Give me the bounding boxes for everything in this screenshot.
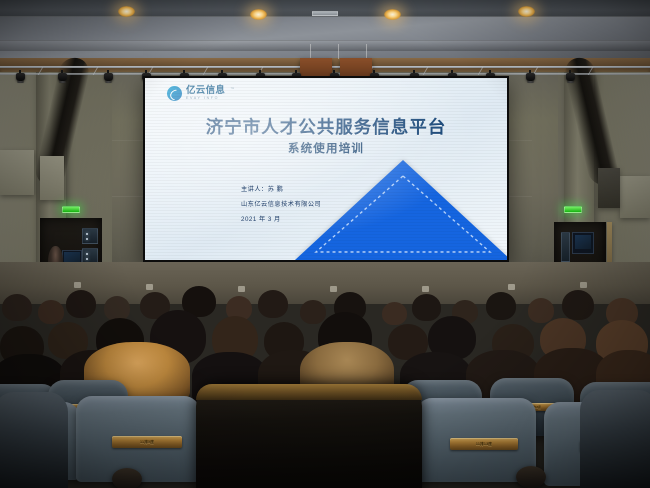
stage-light-icon	[566, 70, 575, 83]
seat-armrest-right[interactable]	[516, 466, 546, 488]
hanging-wire	[310, 44, 311, 59]
seat[interactable]: 11排13座	[416, 398, 536, 482]
slide-meta-block: 主讲人：苏 鹏 山东亿云信息技术有限公司 2021 年 3 月	[241, 184, 321, 223]
seat-foreground-rim	[196, 384, 422, 400]
rack-led-icon	[86, 253, 88, 255]
seat-armrest-left[interactable]	[112, 468, 142, 488]
wall-panel-left-lower	[40, 156, 64, 200]
ceiling-spotlight-icon	[518, 6, 535, 17]
ceiling-vent	[312, 11, 338, 16]
slide-logo: 亿云信息 EVAY INFO ™	[167, 86, 234, 101]
stage-light-icon	[104, 70, 113, 83]
equipment-rack-right	[561, 232, 570, 262]
slide-title: 济宁市人才公共服务信息平台	[145, 114, 507, 139]
slide-triangle-graphic	[295, 156, 507, 260]
rack-led-icon	[86, 238, 88, 240]
stage-light-icon	[58, 70, 67, 83]
projection-screen: 亿云信息 EVAY INFO ™ 济宁市人才公共服务信息平台 系统使用培训 主讲…	[143, 76, 509, 262]
exit-sign-left-icon	[62, 206, 80, 213]
audience-head	[258, 290, 288, 318]
slide-meta-company: 山东亿云信息技术有限公司	[241, 199, 321, 208]
seat-foreground-center[interactable]	[196, 384, 422, 488]
logo-name-en: EVAY INFO	[186, 97, 225, 101]
audience-head	[2, 294, 32, 321]
ceiling	[0, 0, 650, 62]
audience-head	[528, 298, 554, 323]
audience-head	[382, 302, 407, 325]
exit-sign-right-icon	[564, 206, 582, 213]
audience-head	[412, 294, 441, 321]
logo-text: 亿云信息 EVAY INFO	[186, 86, 225, 101]
ceiling-spotlight-icon	[118, 6, 135, 17]
ceiling-spotlight-icon	[250, 9, 267, 20]
seat-nameplate: 11排13座	[450, 438, 518, 450]
rack-led-icon	[86, 233, 88, 235]
rack-led-icon	[86, 258, 88, 260]
swoosh-circle-logo-icon	[167, 86, 182, 101]
seat-foreground-left[interactable]	[0, 392, 68, 488]
hanging-wire	[338, 44, 339, 59]
slide-meta-date: 2021 年 3 月	[241, 214, 321, 223]
ceiling-band	[0, 40, 650, 51]
auditorium-scene: 亿云信息 EVAY INFO ™ 济宁市人才公共服务信息平台 系统使用培训 主讲…	[0, 0, 650, 488]
audience-head	[300, 300, 326, 324]
trademark-symbol: ™	[230, 86, 234, 91]
audience-head	[486, 292, 516, 320]
seat-nameplate: 11排5座	[112, 436, 182, 448]
audience-head	[66, 290, 96, 318]
equipment-rack-left	[82, 228, 98, 244]
stage-light-icon	[16, 70, 25, 83]
triangle-dashed-outline	[313, 173, 493, 255]
slide-subtitle: 系统使用培训	[145, 140, 507, 156]
projected-slide: 亿云信息 EVAY INFO ™ 济宁市人才公共服务信息平台 系统使用培训 主讲…	[145, 78, 507, 260]
hanging-wire	[366, 44, 367, 59]
audience-head	[562, 290, 594, 320]
audience-head	[38, 300, 64, 324]
audience-area: 10排3座 10排7座 10排11座 10排13座 11排11座 1	[0, 280, 650, 488]
wall-panel-right	[620, 176, 650, 218]
slide-meta-presenter: 主讲人：苏 鹏	[241, 184, 321, 193]
seat[interactable]: 11排5座	[76, 396, 200, 482]
wall-panel-left-upper	[0, 150, 34, 195]
monitor-right	[572, 232, 594, 254]
wall-panel-right-dark	[598, 168, 620, 208]
ceiling-spotlight-icon	[384, 9, 401, 20]
stage-light-icon	[526, 70, 535, 83]
seat-nameplate-label: 11排5座	[140, 440, 154, 445]
logo-name-cn: 亿云信息	[186, 86, 225, 96]
seat-foreground-right[interactable]	[580, 390, 650, 488]
seat-nameplate-label: 11排13座	[476, 442, 492, 447]
